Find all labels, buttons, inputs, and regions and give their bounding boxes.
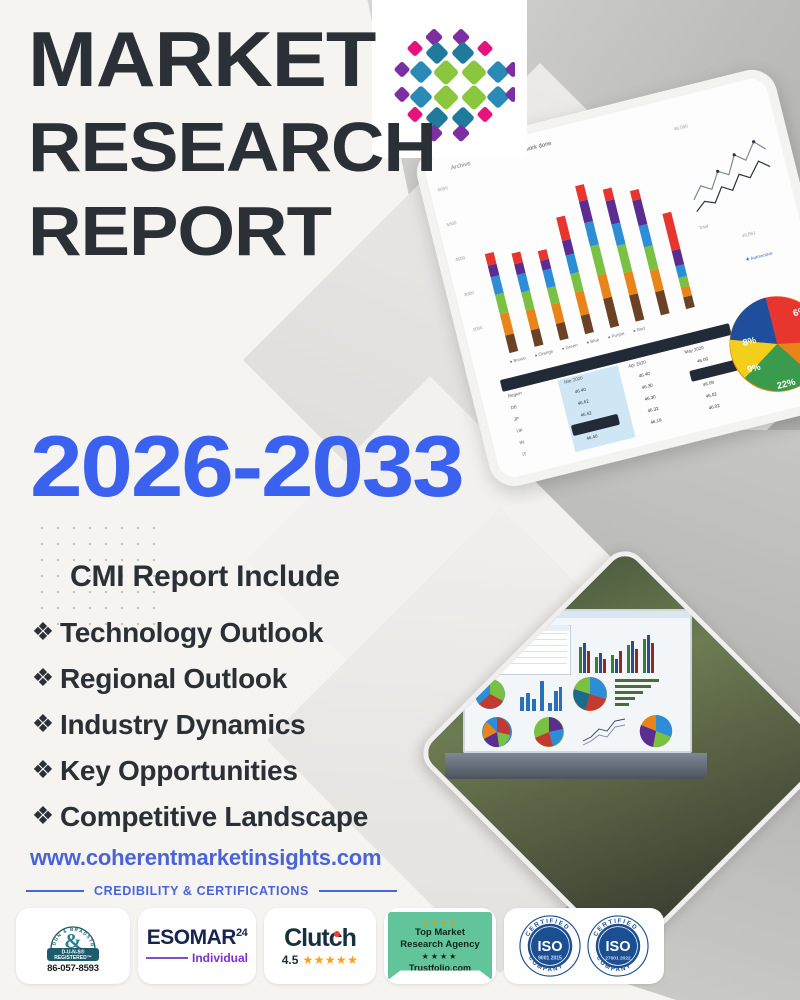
esomar-tier: Individual — [192, 951, 248, 965]
title-line-market: MARKET — [28, 22, 452, 98]
title-line-research: RESEARCH — [28, 114, 452, 182]
iso-27001-seal-icon: CERTIFIED COMPANY ISO 27001 2022 — [587, 915, 649, 977]
list-item: ❖ Competitive Landscape — [26, 796, 466, 837]
svg-text:REGISTERED™: REGISTERED™ — [54, 955, 92, 961]
trustfolio-stars-top-icon: ★★★★ — [422, 919, 459, 927]
list-item: ❖ Regional Outlook — [26, 658, 466, 699]
svg-text:ISO: ISO — [605, 939, 630, 955]
credibility-divider: CREDIBILITY & CERTIFICATIONS — [26, 884, 396, 898]
list-item: ❖ Technology Outlook — [26, 612, 466, 653]
certification-badges: DUN & BRADSTREET & D-U-N-S® REGISTERED™ … — [16, 908, 664, 984]
esomar-name: ESOMAR24 — [147, 927, 247, 948]
laptop-pie-2 — [571, 675, 609, 713]
clutch-name: Clutch — [284, 926, 356, 951]
tablet-stacked-bar-chart — [464, 138, 709, 354]
list-item-label: Competitive Landscape — [60, 801, 368, 833]
website-url-link[interactable]: www.coherentmarketinsights.com — [30, 845, 381, 871]
diamond-bullet-icon: ❖ — [26, 804, 60, 829]
trustfolio-badge[interactable]: ★★★★ Top Market Research Agency ★★★★ Tru… — [384, 908, 496, 984]
laptop-keyboard-base — [445, 753, 707, 779]
list-item-label: Industry Dynamics — [60, 709, 305, 741]
iso-9001-seal-icon: CERTIFIED COMPANY ISO 9001 2015 — [519, 915, 581, 977]
laptop-pie-3 — [479, 715, 515, 749]
iso-standard-1: 9001 2015 — [538, 956, 562, 962]
report-cover-page: Archive Average work done 6000 5000 4000… — [0, 0, 800, 1000]
list-item: ❖ Industry Dynamics — [26, 704, 466, 745]
laptop-pie-5 — [637, 713, 675, 749]
esomar-word: ESOMAR — [147, 926, 236, 949]
clutch-rating-value: 4.5 — [282, 953, 299, 967]
laptop-bar-small — [517, 677, 563, 711]
diamond-bullet-icon: ❖ — [26, 712, 60, 737]
duns-registered-badge[interactable]: DUN & BRADSTREET & D-U-N-S® REGISTERED™ … — [16, 908, 130, 984]
laptop-bar-chart — [575, 625, 661, 673]
page-title: MARKET RESEARCH REPORT — [28, 22, 428, 281]
include-section-title: CMI Report Include — [70, 560, 340, 594]
trustfolio-line-2: Research Agency — [400, 940, 479, 951]
laptop-pie-4 — [531, 715, 567, 749]
esomar-superscript: 24 — [236, 927, 247, 939]
duns-seal-icon: DUN & BRADSTREET & D-U-N-S® REGISTERED™ — [43, 919, 103, 963]
clutch-wordmark: Clutch — [284, 924, 356, 952]
title-line-report: REPORT — [28, 198, 452, 266]
divider-line-right — [319, 890, 397, 892]
list-item-label: Regional Outlook — [60, 663, 287, 695]
esomar-tier-row: Individual — [146, 951, 248, 965]
iso-standard-2: 27001 2022 — [605, 956, 631, 962]
svg-text:ISO: ISO — [537, 939, 562, 955]
list-item-label: Key Opportunities — [60, 755, 298, 787]
tablet-line-chart — [679, 129, 779, 218]
clutch-rating-row: 4.5 ★★★★★ — [282, 953, 358, 967]
clutch-badge[interactable]: Clutch 4.5 ★★★★★ — [264, 908, 376, 984]
trustfolio-line-1: Top Market — [415, 928, 465, 939]
laptop-line-chart — [581, 715, 629, 747]
trustfolio-stars-bottom-icon: ★★★★ — [422, 953, 459, 961]
clutch-dot-icon — [334, 931, 340, 937]
divider-line-left — [26, 890, 84, 892]
diamond-bullet-icon: ❖ — [26, 758, 60, 783]
clutch-stars-icon: ★★★★★ — [302, 953, 358, 967]
credibility-label: CREDIBILITY & CERTIFICATIONS — [94, 884, 309, 898]
duns-number: 86-057-8593 — [47, 963, 99, 974]
diamond-bullet-icon: ❖ — [26, 666, 60, 691]
diamond-bullet-icon: ❖ — [26, 620, 60, 645]
trustfolio-url: Trustfolio.com — [409, 963, 471, 973]
laptop-horizontal-bars — [615, 677, 665, 711]
iso-certification-badges[interactable]: CERTIFIED COMPANY ISO 9001 2015 CERTIFIE… — [504, 908, 664, 984]
list-item-label: Technology Outlook — [60, 617, 323, 649]
include-list: ❖ Technology Outlook ❖ Regional Outlook … — [26, 612, 466, 842]
esomar-rule — [146, 957, 188, 959]
trustfolio-panel: ★★★★ Top Market Research Agency ★★★★ Tru… — [388, 912, 492, 980]
esomar-badge[interactable]: ESOMAR24 Individual — [138, 908, 256, 984]
report-year-range: 2026-2033 — [30, 424, 463, 510]
list-item: ❖ Key Opportunities — [26, 750, 466, 791]
